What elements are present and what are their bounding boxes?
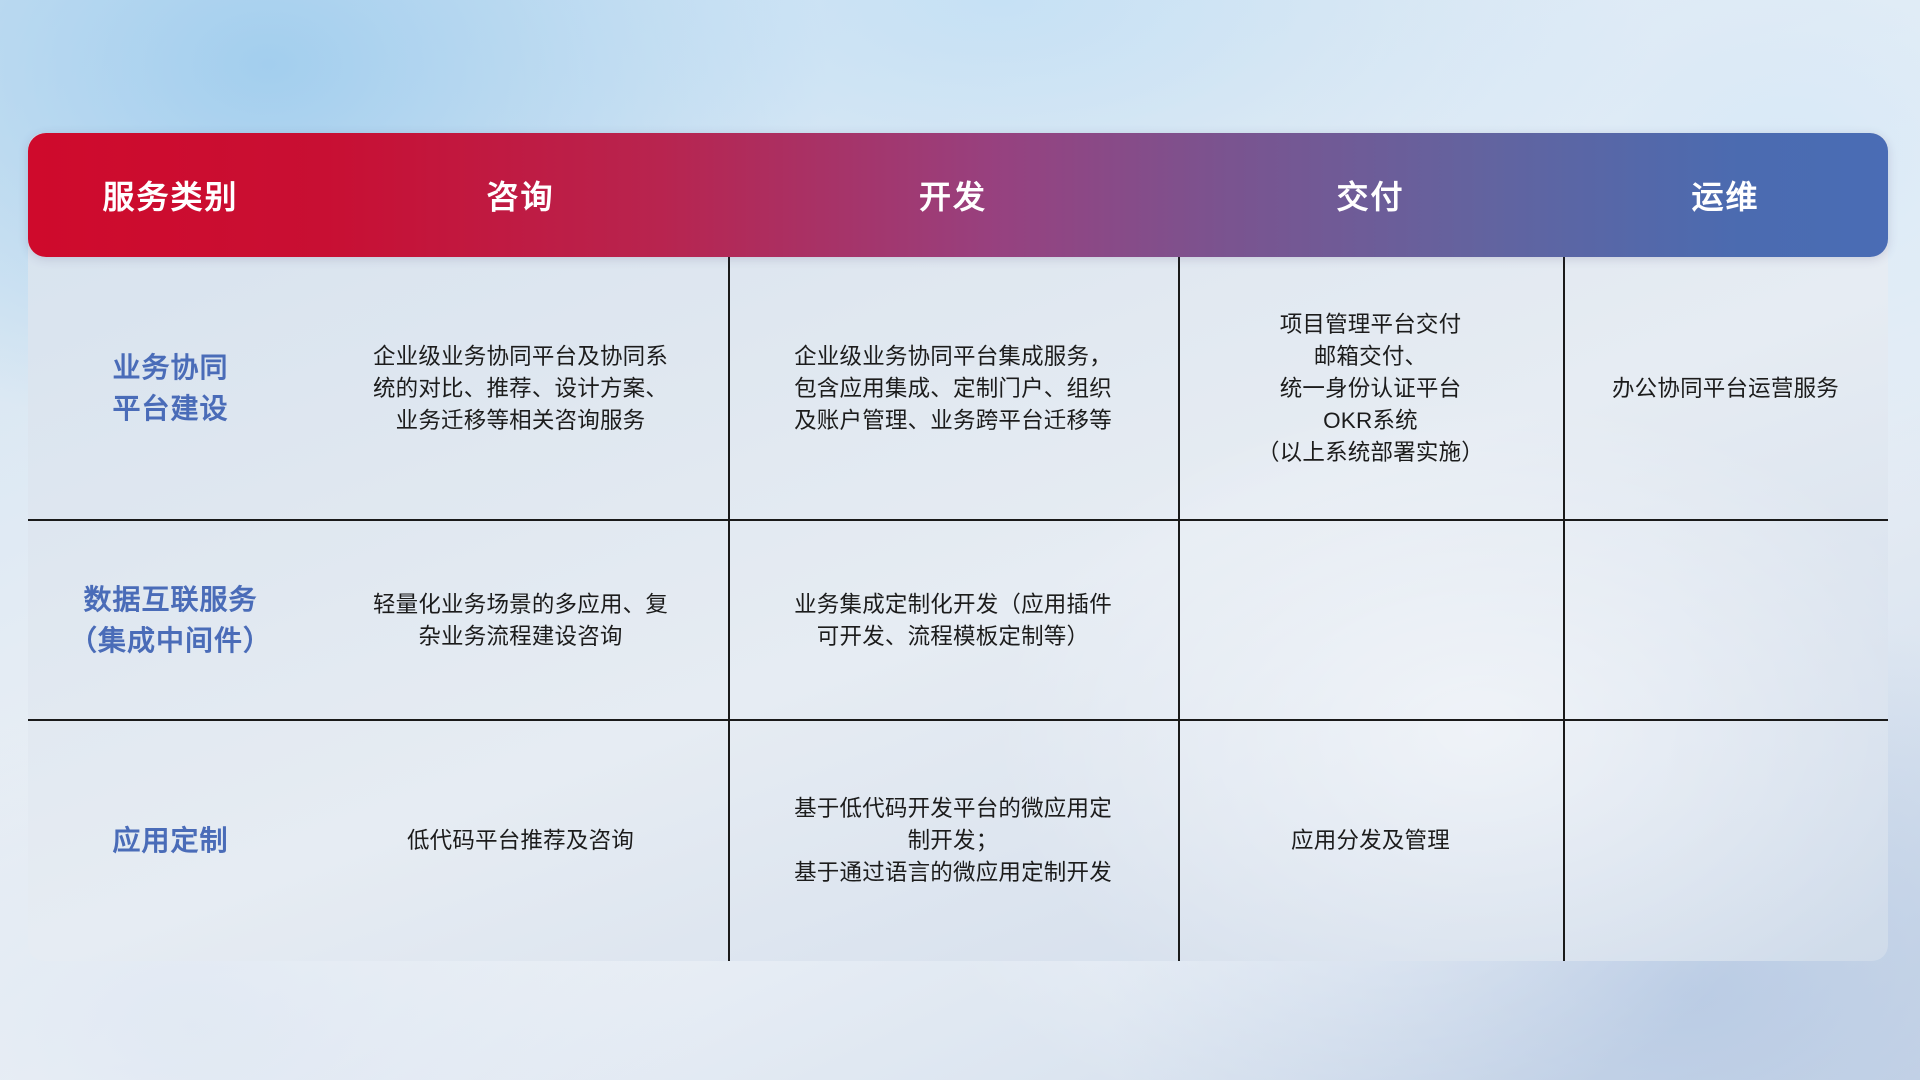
cell-text: 低代码平台推荐及咨询 (407, 825, 634, 857)
cell-development: 业务集成定制化开发（应用插件 可开发、流程模板定制等） (728, 521, 1178, 721)
column-separator-3 (1563, 257, 1565, 961)
row-label-cell: 数据互联服务 （集成中间件） (28, 521, 313, 721)
service-matrix-table: 服务类别 咨询 开发 交付 运维 业务协同 平台建设 企业级业务协同平台及协同系… (28, 133, 1888, 961)
row-separator (28, 519, 1888, 521)
cell-text: 基于低代码开发平台的微应用定 制开发； 基于通过语言的微应用定制开发 (794, 793, 1112, 889)
row-label-text: 业务协同 平台建设 (112, 348, 228, 429)
cell-development: 企业级业务协同平台集成服务， 包含应用集成、定制门户、组织 及账户管理、业务跨平… (728, 257, 1178, 521)
cell-operations (1563, 721, 1888, 961)
cell-consulting: 企业级业务协同平台及协同系 统的对比、推荐、设计方案、 业务迁移等相关咨询服务 (313, 257, 728, 521)
cell-delivery: 应用分发及管理 (1178, 721, 1563, 961)
table-header-row: 服务类别 咨询 开发 交付 运维 (28, 133, 1888, 257)
table-row: 业务协同 平台建设 企业级业务协同平台及协同系 统的对比、推荐、设计方案、 业务… (28, 257, 1888, 521)
cell-development: 基于低代码开发平台的微应用定 制开发； 基于通过语言的微应用定制开发 (728, 721, 1178, 961)
table-body: 业务协同 平台建设 企业级业务协同平台及协同系 统的对比、推荐、设计方案、 业务… (28, 257, 1888, 961)
row-label-cell: 业务协同 平台建设 (28, 257, 313, 521)
row-separator (28, 719, 1888, 721)
cell-delivery (1178, 521, 1563, 721)
column-header-consulting: 咨询 (313, 172, 728, 218)
column-header-operations: 运维 (1563, 172, 1888, 218)
row-label-cell: 应用定制 (28, 721, 313, 961)
cell-text: 业务集成定制化开发（应用插件 可开发、流程模板定制等） (794, 589, 1112, 653)
column-header-category: 服务类别 (28, 172, 313, 218)
cell-text: 企业级业务协同平台集成服务， 包含应用集成、定制门户、组织 及账户管理、业务跨平… (794, 341, 1112, 437)
cell-text: 项目管理平台交付 邮箱交付、 统一身份认证平台 OKR系统 （以上系统部署实施） (1257, 309, 1484, 469)
column-separator-1 (728, 257, 730, 961)
column-header-delivery: 交付 (1178, 172, 1563, 218)
row-label-text: 数据互联服务 （集成中间件） (69, 580, 272, 661)
table-row: 应用定制 低代码平台推荐及咨询 基于低代码开发平台的微应用定 制开发； 基于通过… (28, 721, 1888, 961)
cell-consulting: 低代码平台推荐及咨询 (313, 721, 728, 961)
row-label-text: 应用定制 (112, 821, 228, 862)
cell-text: 办公协同平台运营服务 (1612, 373, 1839, 405)
cell-delivery: 项目管理平台交付 邮箱交付、 统一身份认证平台 OKR系统 （以上系统部署实施） (1178, 257, 1563, 521)
cell-text: 轻量化业务场景的多应用、复 杂业务流程建设咨询 (373, 589, 668, 653)
column-separator-2 (1178, 257, 1180, 961)
cell-operations (1563, 521, 1888, 721)
cell-text: 应用分发及管理 (1291, 825, 1450, 857)
column-header-development: 开发 (728, 172, 1178, 218)
cell-consulting: 轻量化业务场景的多应用、复 杂业务流程建设咨询 (313, 521, 728, 721)
cell-text: 企业级业务协同平台及协同系 统的对比、推荐、设计方案、 业务迁移等相关咨询服务 (373, 341, 668, 437)
table-row: 数据互联服务 （集成中间件） 轻量化业务场景的多应用、复 杂业务流程建设咨询 业… (28, 521, 1888, 721)
cell-operations: 办公协同平台运营服务 (1563, 257, 1888, 521)
